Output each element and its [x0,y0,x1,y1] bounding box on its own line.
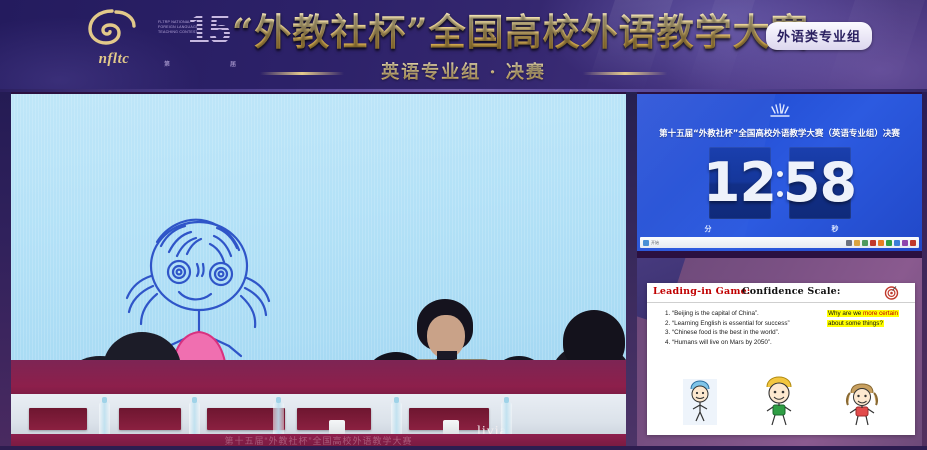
timer-seconds-unit: 秒 [832,224,839,234]
water-bottle [273,402,284,436]
banner-subtitle-row: 英语专业组 · 决赛 [0,58,927,88]
question-text-a: Why are we [828,310,863,317]
name-placard [29,408,87,430]
question-line-2: about some things? [827,320,884,327]
name-placard [119,408,181,430]
page-title: “外教社杯”全国高校外语教学大赛 [232,7,809,57]
water-bottle [189,402,200,436]
slide-statement-list: 1. “Beijing is the capital of China”. 2.… [665,309,815,347]
decorative-line-right [583,72,667,75]
countdown-timer-panel[interactable]: 第十五届“外教社杯”全国高校外语教学大赛（英语专业组）决赛 12 58 分 秒 … [637,94,922,251]
timer-minutes-box: 12 [709,147,771,219]
list-item: 2. “Learning English is essential for su… [665,319,815,329]
timer-event-title: 第十五届“外教社杯”全国高校外语教学大赛（英语专业组）决赛 [637,127,922,139]
start-button-icon[interactable] [643,240,649,246]
banner-subtitle: 英语专业组 · 决赛 [0,58,927,88]
stage-edge-middle [626,92,637,450]
list-item: 4. “Humans will live on Mars by 2050”. [665,338,815,348]
projection-screen: 8 [11,94,626,404]
water-bottle [391,402,402,436]
question-text-emphasis: more certain [863,310,898,317]
presentation-slide[interactable]: Leading-in Game: Confidence Scale: 1. “B… [647,283,915,435]
stage-edge-right [922,92,927,450]
slide-heading-left: Leading-in Game: [653,286,751,297]
taskbar-app-icon[interactable] [846,240,852,246]
video-footer-bar: 第十五届“外教社杯”全国高校外语教学大赛 [11,434,626,446]
screenshot-root: nfltc FLTRP NATIONAL FOREIGN LANGUAGE TE… [0,0,927,450]
slide-question: Why are we more certain about some thing… [827,309,912,329]
taskbar-app-icon[interactable] [854,240,860,246]
timer-digits: 12 58 [637,144,922,222]
event-banner: nfltc FLTRP NATIONAL FOREIGN LANGUAGE TE… [0,0,927,92]
taskbar-app-icon[interactable] [886,240,892,246]
slide-heading-right: Confidence Scale: [742,286,841,297]
water-bottle [99,402,110,436]
category-badge: 外语类专业组 [766,22,872,50]
taskbar-app-icon[interactable] [870,240,876,246]
edition-number: 15 [188,8,231,53]
kid-pigtails-icon [843,381,881,432]
video-watermark: 第十五届“外教社杯”全国高校外语教学大赛 [225,434,413,446]
timer-minutes: 12 [709,147,771,219]
taskbar-app-icon[interactable] [862,240,868,246]
stage-edge-left [0,92,11,450]
list-item: 3. “Chinese food is the best in the worl… [665,328,815,338]
taskbar-app-icon[interactable] [894,240,900,246]
target-icon [884,285,899,300]
taskbar-app-icon[interactable] [902,240,908,246]
kid-yellow-icon [759,375,799,432]
main-video-feed[interactable]: 8 li [11,94,626,446]
windows-taskbar[interactable]: 开始 [640,237,919,248]
question-line-1: Why are we more certain [827,310,899,317]
crown-emblem-icon [769,102,791,120]
swirl-logo-icon [86,8,138,48]
taskbar-app-icon[interactable] [878,240,884,246]
taskbar-app-icon[interactable] [910,240,916,246]
timer-minutes-unit: 分 [705,224,712,234]
taskbar-label: 开始 [651,240,659,246]
list-item: 1. “Beijing is the capital of China”. [665,309,815,319]
slide-kid-figures [647,379,915,427]
kid-blue-icon [683,379,717,430]
water-bottle [501,402,512,436]
stage-edge-bottom [0,446,927,450]
timer-seconds-box: 58 [789,147,851,219]
slide-header: Leading-in Game: Confidence Scale: [647,283,915,303]
timer-seconds: 58 [789,147,851,219]
